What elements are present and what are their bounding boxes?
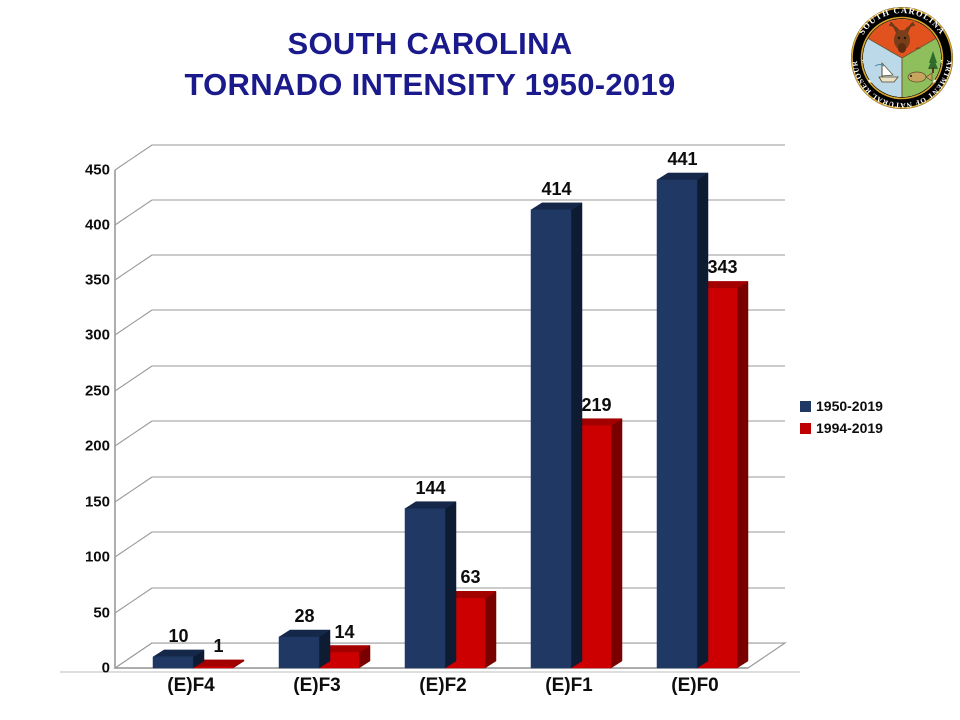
y-tick-400: 400 — [50, 217, 110, 234]
x-tick-ef1: (E)F1 — [514, 675, 624, 697]
data-label-ef4-1950-2019: 10 — [149, 626, 209, 647]
y-tick-450: 450 — [50, 162, 110, 179]
legend-item-1994-2019[interactable]: 1994-2019 — [800, 418, 950, 438]
bar-ef1-1950-2019 — [531, 203, 582, 668]
bar-ef0-1950-2019 — [657, 173, 708, 668]
data-label-ef2-1950-2019: 144 — [401, 478, 461, 499]
legend-item-1950-2019[interactable]: 1950-2019 — [800, 396, 950, 416]
y-tick-50: 50 — [50, 605, 110, 622]
y-tick-100: 100 — [50, 549, 110, 566]
legend-swatch-red — [800, 423, 811, 434]
x-tick-ef2: (E)F2 — [388, 675, 498, 697]
data-label-ef1-1950-2019: 414 — [527, 179, 587, 200]
y-tick-150: 150 — [50, 494, 110, 511]
y-axis-tick-labels: 0 50 100 150 200 250 300 350 400 450 — [48, 0, 110, 720]
slide-canvas: SOUTH CAROLINA TORNADO INTENSITY 1950-20… — [0, 0, 960, 720]
data-label-ef2-1994-2019: 63 — [441, 567, 501, 588]
plot-area — [0, 0, 960, 720]
data-label-ef0-1950-2019: 441 — [653, 149, 713, 170]
x-tick-ef4: (E)F4 — [136, 675, 246, 697]
data-label-ef3-1950-2019: 28 — [275, 606, 335, 627]
y-tick-0: 0 — [50, 660, 110, 677]
tornado-intensity-bar-chart: 0 50 100 150 200 250 300 350 400 450 (E)… — [0, 0, 960, 720]
x-tick-ef3: (E)F3 — [262, 675, 372, 697]
y-tick-350: 350 — [50, 272, 110, 289]
y-tick-250: 250 — [50, 383, 110, 400]
legend-swatch-navy — [800, 401, 811, 412]
chart-legend: 1950-2019 1994-2019 — [800, 396, 950, 440]
legend-label-1994-2019: 1994-2019 — [816, 420, 883, 436]
legend-label-1950-2019: 1950-2019 — [816, 398, 883, 414]
y-tick-300: 300 — [50, 327, 110, 344]
x-tick-ef0: (E)F0 — [640, 675, 750, 697]
y-tick-200: 200 — [50, 438, 110, 455]
data-label-ef1-1994-2019: 219 — [567, 395, 627, 416]
data-label-ef0-1994-2019: 343 — [693, 257, 753, 278]
